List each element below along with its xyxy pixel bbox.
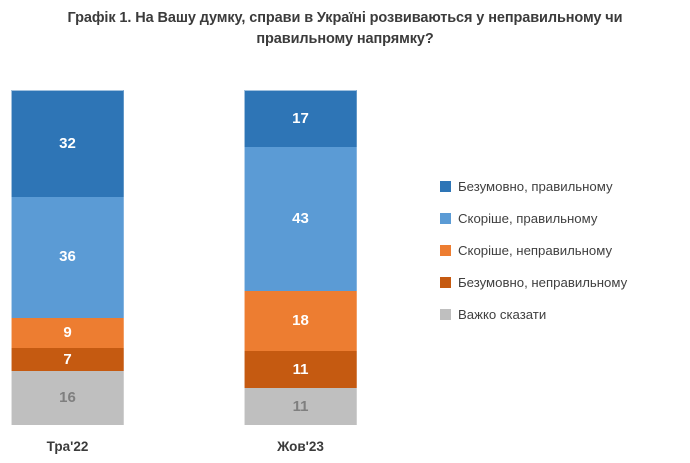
legend-swatch-icon bbox=[440, 309, 451, 320]
plot-area: 32369716 1743181111 Тра'22 Жов'23 bbox=[0, 0, 420, 463]
legend-item-label: Скоріше, правильному bbox=[458, 211, 597, 226]
bar-segment-value: 11 bbox=[293, 361, 309, 378]
bar-segment: 7 bbox=[11, 348, 124, 371]
legend-item[interactable]: Безумовно, правильному bbox=[440, 170, 627, 202]
bar-segment: 17 bbox=[244, 90, 357, 147]
bar-segment: 32 bbox=[11, 90, 124, 197]
legend-item-label: Безумовно, неправильному bbox=[458, 275, 627, 290]
bar-segment: 43 bbox=[244, 147, 357, 291]
bar-segment-value: 43 bbox=[292, 210, 309, 227]
legend-item-label: Безумовно, правильному bbox=[458, 179, 613, 194]
legend-item[interactable]: Важко сказати bbox=[440, 298, 627, 330]
category-label-1: Тра'22 bbox=[11, 439, 124, 454]
category-label-2: Жов'23 bbox=[244, 439, 357, 454]
bar-segment-value: 32 bbox=[59, 135, 76, 152]
bar-segment-value: 36 bbox=[59, 248, 76, 265]
stacked-bar-column-1: 32369716 bbox=[11, 90, 124, 425]
chart-legend: Безумовно, правильномуСкоріше, правильно… bbox=[440, 170, 627, 330]
bar-segment: 18 bbox=[244, 291, 357, 351]
legend-item[interactable]: Скоріше, неправильному bbox=[440, 234, 627, 266]
legend-item-label: Важко сказати bbox=[458, 307, 546, 322]
bar-segment: 11 bbox=[244, 351, 357, 388]
bar-segment: 36 bbox=[11, 197, 124, 318]
legend-swatch-icon bbox=[440, 245, 451, 256]
bar-segment-value: 7 bbox=[63, 351, 71, 368]
bar-segment: 11 bbox=[244, 388, 357, 425]
bar-segment: 9 bbox=[11, 318, 124, 348]
bar-segment-value: 17 bbox=[292, 110, 309, 127]
stacked-bar-column-2: 1743181111 bbox=[244, 90, 357, 425]
bar-segment-value: 16 bbox=[59, 389, 76, 406]
legend-swatch-icon bbox=[440, 277, 451, 288]
bar-segment: 16 bbox=[11, 371, 124, 425]
bar-segment-value: 9 bbox=[63, 324, 71, 341]
bar-segment-value: 18 bbox=[292, 312, 309, 329]
legend-item[interactable]: Скоріше, правильному bbox=[440, 202, 627, 234]
legend-item[interactable]: Безумовно, неправильному bbox=[440, 266, 627, 298]
legend-swatch-icon bbox=[440, 181, 451, 192]
legend-item-label: Скоріше, неправильному bbox=[458, 243, 612, 258]
bar-segment-value: 11 bbox=[293, 398, 309, 415]
legend-swatch-icon bbox=[440, 213, 451, 224]
